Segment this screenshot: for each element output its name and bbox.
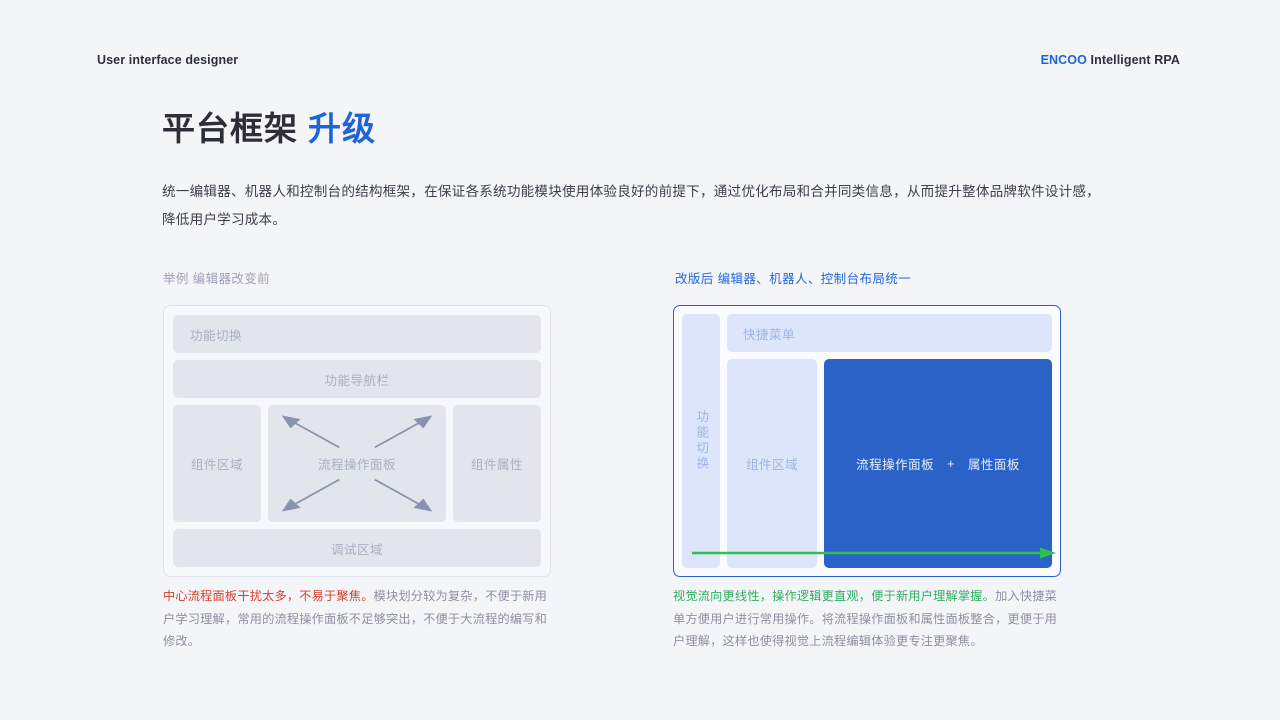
- new-component-area-box: 组件区域: [727, 359, 817, 568]
- intro-paragraph: 统一编辑器、机器人和控制台的结构框架，在保证各系统功能模块使用体验良好的前提下，…: [162, 178, 1107, 234]
- new-flow-panel-label: 流程操作面板: [856, 454, 934, 473]
- page-title-main: 平台框架: [162, 110, 298, 147]
- old-component-area-box: 组件区域: [173, 405, 261, 522]
- header-brand: ENCOO Intelligent RPA: [1041, 53, 1180, 67]
- old-layout-grid: 功能切换 功能导航栏 组件区域 流程操作面板: [173, 315, 541, 567]
- new-props-panel-label: 属性面板: [968, 454, 1020, 473]
- caption-after: 视觉流向更线性，操作逻辑更直观，便于新用户理解掌握。加入快捷菜单方便用户进行常用…: [673, 585, 1063, 653]
- new-body-row: 组件区域 流程操作面板 + 属性面板: [727, 359, 1052, 568]
- new-merged-panel-box: 流程操作面板 + 属性面板: [824, 359, 1052, 568]
- new-right-column: 快捷菜单 组件区域 流程操作面板 + 属性面板: [727, 314, 1052, 568]
- old-flow-panel-label: 流程操作面板: [318, 454, 396, 473]
- old-middle-row: 组件区域 流程操作面板 组件属性: [173, 405, 541, 522]
- old-component-props-box: 组件属性: [453, 405, 541, 522]
- old-debug-area-box: 调试区域: [173, 529, 541, 567]
- old-layout-diagram: 功能切换 功能导航栏 组件区域 流程操作面板: [163, 305, 551, 577]
- new-layout-diagram: 功能切换 快捷菜单 组件区域 流程操作面板 + 属性面板: [673, 305, 1061, 577]
- old-function-switch-box: 功能切换: [173, 315, 541, 353]
- caption-before-highlight: 中心流程面板干扰太多，不易于聚焦。: [163, 589, 374, 603]
- caption-after-highlight: 视觉流向更线性，操作逻辑更直观，便于新用户理解掌握。: [673, 589, 995, 603]
- brand-suffix: Intelligent RPA: [1087, 53, 1180, 67]
- new-quick-menu-box: 快捷菜单: [727, 314, 1052, 352]
- section-label-after: 改版后 编辑器、机器人、控制台布局统一: [675, 268, 911, 287]
- section-label-before: 举例 编辑器改变前: [163, 268, 270, 287]
- brand-name: ENCOO: [1041, 53, 1087, 67]
- page-title: 平台框架升级: [162, 108, 376, 149]
- new-layout-grid: 功能切换 快捷菜单 组件区域 流程操作面板 + 属性面板: [682, 314, 1052, 568]
- new-function-switch-box: 功能切换: [682, 314, 720, 568]
- old-flow-panel-box: 流程操作面板: [268, 405, 446, 522]
- page-title-accent: 升级: [308, 110, 376, 147]
- page-header: User interface designer ENCOO Intelligen…: [97, 50, 1180, 70]
- plus-sign-icon: +: [947, 457, 955, 471]
- old-function-nav-box: 功能导航栏: [173, 360, 541, 398]
- header-left-title: User interface designer: [97, 53, 238, 67]
- caption-before: 中心流程面板干扰太多，不易于聚焦。模块划分较为复杂，不便于新用户学习理解，常用的…: [163, 585, 553, 653]
